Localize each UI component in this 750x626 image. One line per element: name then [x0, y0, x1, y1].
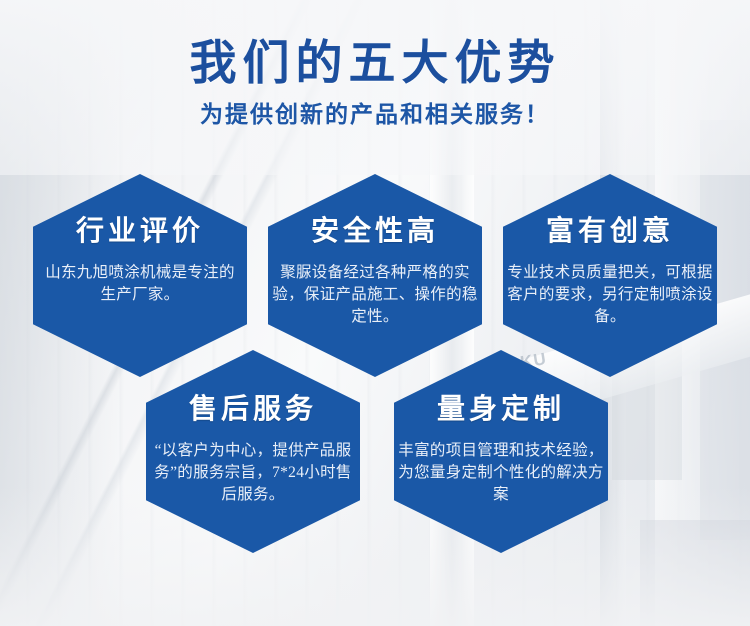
advantage-title: 量身定制 — [437, 396, 565, 424]
advantage-body: 山东九旭喷涂机械是专注的生产厂家。 — [33, 262, 247, 306]
advantage-body: 聚脲设备经过各种严格的实验，保证产品施工、操作的稳定性。 — [268, 262, 482, 328]
background-bottom-fade — [0, 486, 750, 626]
advantage-title: 行业评价 — [76, 218, 204, 246]
promo-banner: SKU 我们的五大优势 为提供创新的产品和相关服务！ 行业评价 山东九旭喷涂机械… — [0, 0, 750, 626]
advantage-body: “以客户为中心，提供产品服务”的服务宗旨，7*24小时售后服务。 — [146, 440, 360, 506]
advantage-title: 售后服务 — [189, 396, 317, 424]
advantage-title: 安全性高 — [311, 218, 439, 246]
page-title: 我们的五大优势 — [0, 0, 750, 90]
header: 我们的五大优势 为提供创新的产品和相关服务！ — [0, 0, 750, 128]
advantage-body: 丰富的项目管理和技术经验，为您量身定制个性化的解决方案 — [394, 440, 608, 506]
advantage-body: 专业技术员质量把关，可根据客户的要求，另行定制喷涂设备。 — [503, 262, 717, 328]
page-subtitle: 为提供创新的产品和相关服务！ — [0, 90, 750, 129]
advantage-title: 富有创意 — [546, 218, 674, 246]
